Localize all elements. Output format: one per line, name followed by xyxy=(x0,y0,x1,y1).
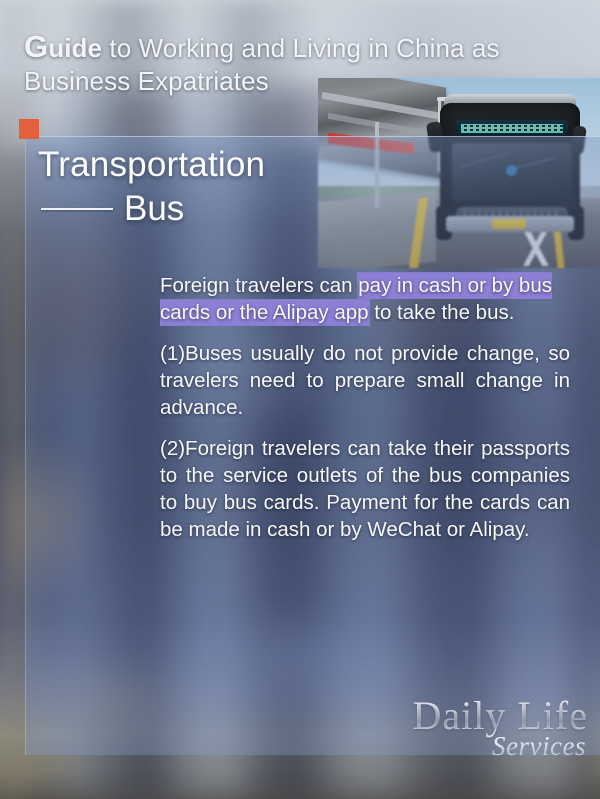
infographic-poster: Guide to Working and Living in China as … xyxy=(0,0,600,799)
section-heading-line1: Transportation xyxy=(38,144,368,186)
heading-dash-rule xyxy=(41,208,113,210)
section-heading: Transportation Bus xyxy=(38,144,368,230)
title-accent-letter: G xyxy=(24,29,48,64)
paragraph-item-1: (1)Buses usually do not provide change, … xyxy=(160,340,570,421)
bus-destination-display xyxy=(456,120,568,137)
section-heading-line2: Bus xyxy=(38,188,368,230)
paragraph-intro-tail: to take the bus. xyxy=(369,301,515,324)
footer-logo: Daily Life Services xyxy=(372,694,588,766)
panel-top-divider xyxy=(25,136,600,137)
page-title: Guide to Working and Living in China as … xyxy=(24,30,564,98)
paragraph-intro-lead: Foreign travelers can xyxy=(160,274,358,297)
accent-square-marker xyxy=(19,119,39,139)
body-text-column: Foreign travelers can pay in cash or by … xyxy=(160,272,570,557)
section-heading-subject: Bus xyxy=(124,188,184,230)
paragraph-item-2: (2)Foreign travelers can take their pass… xyxy=(160,435,570,543)
paragraph-intro: Foreign travelers can pay in cash or by … xyxy=(160,272,570,326)
title-bold-rest: uide xyxy=(48,33,102,63)
panel-left-rule xyxy=(25,136,26,755)
